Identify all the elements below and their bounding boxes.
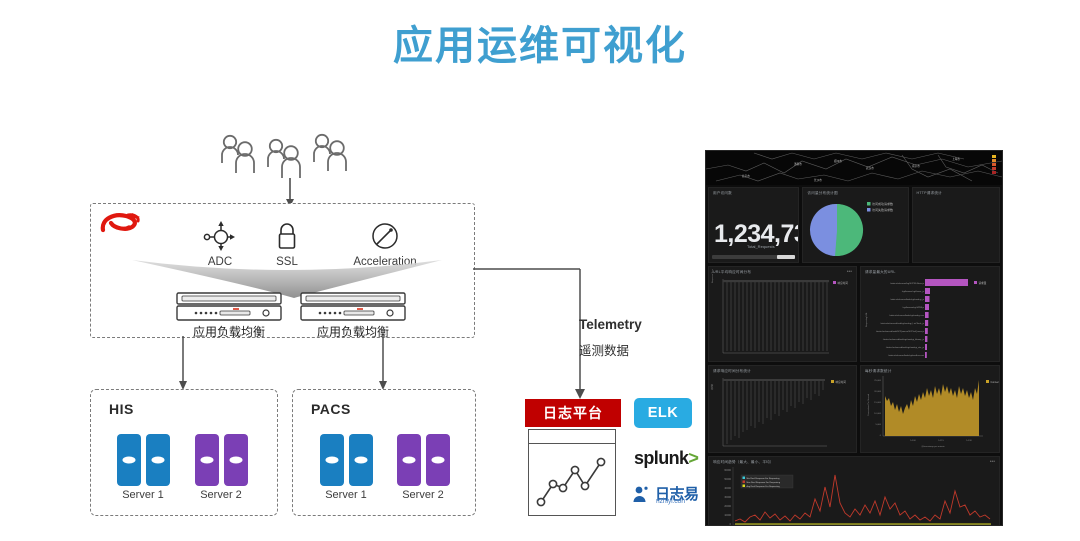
log-platform-badge[interactable]: 日志平台 (525, 399, 621, 427)
svg-text:10,000: 10,000 (874, 413, 881, 415)
group-title-his: HIS (109, 401, 134, 417)
svg-text:上海市: 上海市 (952, 157, 960, 161)
svg-text:10000: 10000 (724, 514, 731, 517)
ssl-lock-icon (242, 218, 332, 252)
svg-text:0: 0 (730, 523, 732, 526)
telemetry-label: Telemetry 遥测数据 (579, 317, 642, 359)
radware-swirl-logo (98, 210, 144, 242)
connections-area-chart: 25,00020,000 15,00010,000 5,0000 Connect… (861, 366, 1000, 452)
load-balancer-label-1: 应用负载均衡 (176, 323, 282, 340)
server-label: Server 1 (112, 489, 174, 501)
svg-text:北京市: 北京市 (742, 174, 750, 178)
server-label: Server 1 (315, 489, 377, 501)
dashboard-row-1: 用户访问数 1,234,73 Total_Requests 访问量分布统计图 (706, 187, 1002, 263)
svg-text:访问成功请求数: 访问成功请求数 (872, 201, 893, 206)
svg-text:Min Real Response For Requesti: Min Real Response For Requesting (747, 477, 781, 480)
panel-total-requests[interactable]: 用户访问数 1,234,73 Total_Requests (708, 187, 799, 263)
svg-text:30000: 30000 (724, 496, 731, 499)
svg-text:5,000: 5,000 (875, 424, 881, 426)
svg-text:14:00: 14:00 (910, 440, 916, 442)
server-icon-pair (392, 434, 454, 486)
svg-text:响应时间: 响应时间 (836, 380, 847, 384)
svg-text:25,000: 25,000 (874, 380, 881, 382)
users-group-icon (218, 133, 348, 181)
group-title-pacs: PACS (311, 401, 351, 417)
url-bars-chart: Response Time (709, 267, 857, 361)
svg-text:/statics/enhanced/web/SCPjsour: /statics/enhanced/web/SCPjsource/SCP/mlQ… (876, 330, 924, 333)
splunk-wordmark[interactable]: splunk> (634, 448, 698, 469)
panel-url-response-distribution[interactable]: URL平均响应时间分布 ••• Response Time (708, 266, 857, 362)
panel-connections-per-second[interactable]: 每秒请求数统计 25,00020,000 15,00010,000 5,0000… (860, 365, 1000, 453)
load-balancer-appliance-icon (176, 292, 282, 322)
panel-http-stats[interactable]: HTTP请求统计 (912, 187, 1000, 263)
svg-text:/statics/enhanced/sg/SCP/IF-Br: /statics/enhanced/sg/SCP/IF-Brain.js (890, 282, 924, 285)
svg-text:请求数: 请求数 (710, 384, 714, 390)
rizhiyi-logo[interactable]: 日志易 rizhiyi.con (632, 483, 699, 504)
svg-text:/statics/enhanced/web/cgi/medc: /statics/enhanced/web/cgi/medcgi_List/To… (880, 322, 924, 325)
telemetry-label-zh: 遥测数据 (579, 340, 642, 359)
server-label: Server 2 (190, 489, 252, 501)
svg-text:/statics/enhanced/web/cgi/medc: /statics/enhanced/web/cgi/medcgi_js (890, 298, 924, 301)
svg-text:/statics/enhanced/web/cgi/medc: /statics/enhanced/web/cgi/medcgi_site_js (886, 346, 924, 349)
svg-text:60000: 60000 (724, 469, 731, 472)
rizhiyi-domain: rizhiyi.con (656, 498, 685, 505)
svg-text:20000: 20000 (724, 505, 731, 508)
acceleration-gauge-icon (325, 218, 445, 252)
server-his-2: Server 2 (190, 434, 252, 501)
svg-text:14:15: 14:15 (938, 440, 944, 442)
svg-text:武汉市: 武汉市 (866, 166, 874, 170)
svg-text:0: 0 (880, 435, 882, 437)
svg-text:Connections_Per_...: Connections_Per_... (990, 381, 1000, 384)
svg-text:济南市: 济南市 (794, 162, 802, 166)
splunk-text: splunk (634, 448, 688, 468)
response-time-line-chart: 6000050000 4000030000 2000010000 0 (709, 457, 999, 526)
elk-badge[interactable]: ELK (634, 398, 692, 428)
load-balancer-appliance-2: 应用负载均衡 (300, 292, 406, 340)
svg-text:长沙市: 长沙市 (814, 178, 822, 182)
pie-chart: 访问成功请求数 访问失败请求数 (803, 188, 908, 262)
splunk-chevron-icon: > (688, 448, 698, 468)
server-icon-pair (315, 434, 377, 486)
svg-text:40000: 40000 (724, 487, 731, 490)
panel-pie-chart[interactable]: 访问量分布统计图 访问成功请求数 访问失败请求数 (802, 187, 908, 263)
server-icon-pair (190, 434, 252, 486)
panel-response-time-trend[interactable]: 响应时间趋势（最大、最小、平均） ••• 6000050000 40000300… (708, 456, 1000, 526)
panel-top-urls[interactable]: 请求量最大的URL Requesting URL /statics/enhanc… (860, 266, 1000, 362)
svg-text:@timestamp per minute: @timestamp per minute (921, 445, 945, 448)
panel-response-distribution[interactable]: 请求响应时间分布统计 请求数 (708, 365, 857, 453)
svg-text:郑州市: 郑州市 (834, 159, 842, 163)
svg-text:Requesting URL: Requesting URL (865, 311, 868, 327)
total-requests-sublabel: Total_Requests (747, 244, 775, 249)
dashboard-row-2: URL平均响应时间分布 ••• Response Time (706, 266, 1002, 362)
rizhiyi-mark-icon (632, 485, 652, 503)
svg-text:请求量: 请求量 (978, 281, 986, 285)
svg-text:/cgi/browse/cgi/home_js: /cgi/browse/cgi/home_js (902, 290, 924, 293)
server-his-1: Server 1 (112, 434, 174, 501)
slide-root: 应用运维可视化 (0, 0, 1080, 541)
svg-text:14:30: 14:30 (966, 440, 972, 442)
server-pacs-2: Server 2 (392, 434, 454, 501)
response-dist-chart: 请求数 (709, 366, 857, 452)
svg-text:50000: 50000 (724, 478, 731, 481)
svg-text:Connections Per Second: Connections Per Second (867, 394, 870, 416)
svg-text:访问失败请求数: 访问失败请求数 (872, 207, 893, 212)
svg-text:南京市: 南京市 (912, 164, 920, 168)
dashboard-map-panel[interactable]: 北京市济南市 郑州市武汉市 南京市上海市 长沙市 (706, 151, 1002, 185)
panel-scrollbar[interactable] (712, 255, 795, 259)
load-balancer-appliance-1: 应用负载均衡 (176, 292, 282, 340)
load-balancer-label-2: 应用负载均衡 (300, 323, 406, 340)
line-chart-icon (528, 429, 616, 516)
svg-text:/statics/enhanced/web/cgi/medc: /statics/enhanced/web/cgi/medcgi.css (889, 314, 924, 317)
panel-title: 用户访问数 (713, 191, 732, 196)
chart-card-header (529, 430, 615, 444)
dashboard-screenshot[interactable]: 北京市济南市 郑州市武汉市 南京市上海市 长沙市 用户访问数 1,234,73 (705, 150, 1003, 526)
svg-text:响应时间: 响应时间 (838, 281, 849, 285)
top-urls-bar-chart: Requesting URL /statics/enhanced/sg/SCP/… (861, 267, 1000, 361)
svg-text:/statics/enhanced/web/cgi/medc: /statics/enhanced/web/cgi/medcgi_bkmap_j… (883, 338, 924, 341)
server-pacs-1: Server 1 (315, 434, 377, 501)
server-icon-pair (112, 434, 174, 486)
svg-text:15,000: 15,000 (874, 402, 881, 404)
dashboard-row-4: 响应时间趋势（最大、最小、平均） ••• 6000050000 40000300… (706, 456, 1002, 526)
svg-text:Max Real Response For Requesti: Max Real Response For Requesting (747, 481, 781, 484)
svg-text:/cgi/browse/cgi/HTMLjs: /cgi/browse/cgi/HTMLjs (902, 306, 923, 309)
dashboard-row-3: 请求响应时间分布统计 请求数 (706, 365, 1002, 453)
server-label: Server 2 (392, 489, 454, 501)
load-balancer-appliance-icon (300, 292, 406, 322)
panel-title: HTTP请求统计 (917, 191, 942, 196)
svg-text:/statics/enhanced/web/cgi/medh: /statics/enhanced/web/cgi/medhver.net (888, 354, 924, 357)
telemetry-label-en: Telemetry (579, 317, 642, 332)
svg-text:20,000: 20,000 (874, 391, 881, 393)
svg-text:Response Time: Response Time (712, 268, 714, 283)
page-title: 应用运维可视化 (0, 22, 1080, 70)
svg-text:Avg Real Response For Requesti: Avg Real Response For Requesting (747, 485, 781, 488)
